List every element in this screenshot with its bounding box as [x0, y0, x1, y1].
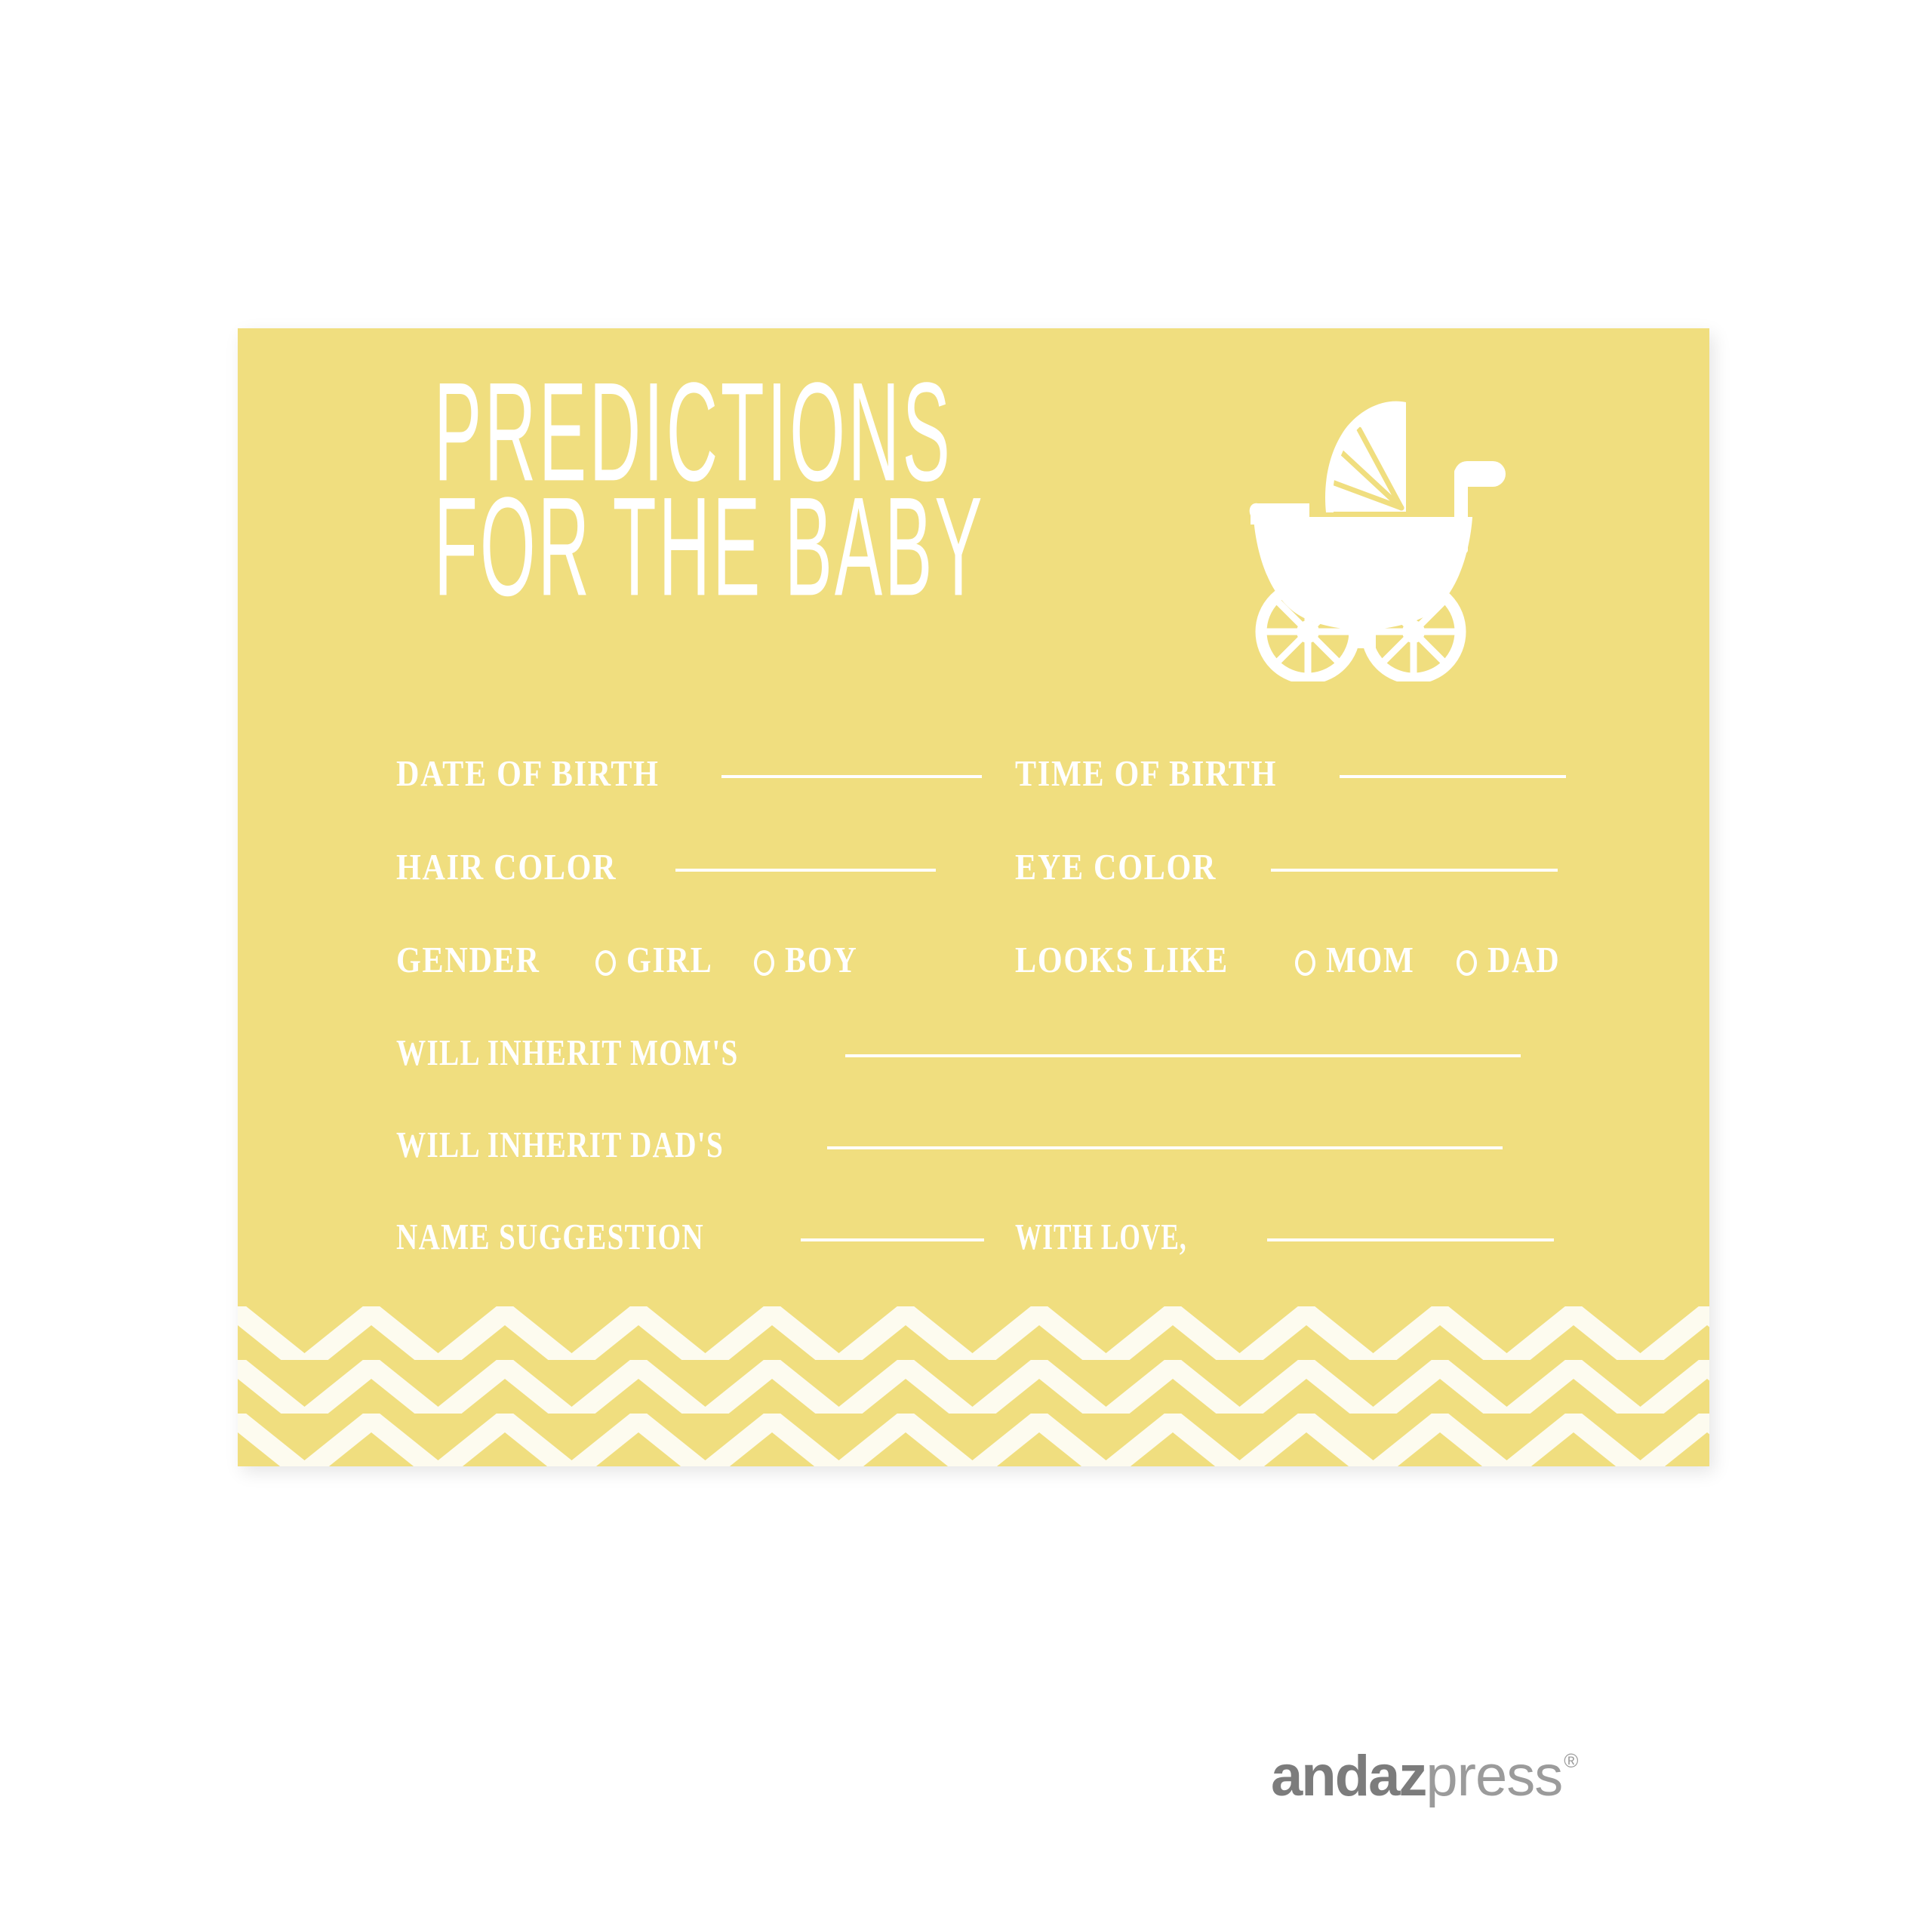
logo-brand-light: press: [1426, 1748, 1562, 1805]
logo-brand-bold: andaz: [1271, 1748, 1426, 1805]
field-date-of-birth[interactable]: DATE OF BIRTH: [396, 755, 982, 792]
card-header: PREDICTIONS FOR THE BABY: [238, 328, 1709, 630]
with-love-input-line[interactable]: [1267, 1238, 1554, 1241]
chevron-pattern: [238, 1306, 1709, 1466]
field-label: WITH LOVE,: [1015, 1218, 1187, 1256]
page-title: PREDICTIONS FOR THE BABY: [434, 365, 1189, 594]
radio-label-mom[interactable]: MOM: [1326, 938, 1414, 981]
radio-label-dad[interactable]: DAD: [1487, 938, 1560, 981]
field-label: NAME SUGGESTION: [396, 1218, 704, 1256]
field-with-love[interactable]: WITH LOVE,: [1015, 1218, 1554, 1256]
form-row-choices: GENDER GIRL BOY LOOKS LIKE MOM DAD: [238, 928, 1709, 991]
radio-gender-girl[interactable]: [595, 950, 616, 976]
andaz-press-logo: andaz press ®: [1271, 1748, 1577, 1805]
field-label: WILL INHERIT MOM'S: [396, 1034, 739, 1072]
will-inherit-moms-input-line[interactable]: [845, 1054, 1521, 1057]
page-canvas: PREDICTIONS FOR THE BABY: [0, 0, 1932, 1932]
radio-label-boy[interactable]: BOY: [785, 938, 857, 981]
field-will-inherit-dads[interactable]: WILL INHERIT DAD'S: [396, 1126, 1709, 1164]
form-row-inherit-dad: WILL INHERIT DAD'S: [238, 1113, 1709, 1177]
prediction-form: DATE OF BIRTH TIME OF BIRTH HAIR COLOR E…: [238, 630, 1709, 1313]
name-suggestion-input-line[interactable]: [801, 1238, 984, 1241]
form-row-name-and-love: NAME SUGGESTION WITH LOVE,: [238, 1205, 1709, 1269]
gender-label: GENDER: [396, 941, 540, 979]
prediction-card: PREDICTIONS FOR THE BABY: [238, 328, 1709, 1466]
field-gender: GENDER GIRL BOY: [396, 938, 869, 981]
eye-color-input-line[interactable]: [1271, 869, 1558, 872]
form-row-inherit-mom: WILL INHERIT MOM'S: [238, 1021, 1709, 1084]
looks-like-label: LOOKS LIKE: [1015, 941, 1229, 979]
field-time-of-birth[interactable]: TIME OF BIRTH: [1015, 755, 1566, 792]
radio-gender-boy[interactable]: [754, 950, 774, 976]
field-label: DATE OF BIRTH: [396, 755, 660, 792]
radio-label-girl[interactable]: GIRL: [626, 938, 713, 981]
field-label: WILL INHERIT DAD'S: [396, 1126, 724, 1164]
radio-looks-like-mom[interactable]: [1295, 950, 1315, 976]
hair-color-input-line[interactable]: [675, 869, 936, 872]
date-of-birth-input-line[interactable]: [721, 775, 982, 778]
title-line-2: FOR THE BABY: [434, 479, 887, 614]
field-will-inherit-moms[interactable]: WILL INHERIT MOM'S: [396, 1034, 1709, 1072]
field-label: EYE COLOR: [1015, 848, 1217, 886]
field-label: TIME OF BIRTH: [1015, 755, 1277, 792]
field-label: HAIR COLOR: [396, 848, 617, 886]
time-of-birth-input-line[interactable]: [1340, 775, 1566, 778]
registered-trademark-icon: ®: [1564, 1751, 1578, 1770]
will-inherit-dads-input-line[interactable]: [827, 1146, 1503, 1149]
form-row-birth: DATE OF BIRTH TIME OF BIRTH: [238, 742, 1709, 805]
form-row-colors: HAIR COLOR EYE COLOR: [238, 835, 1709, 899]
field-hair-color[interactable]: HAIR COLOR: [396, 848, 936, 886]
field-eye-color[interactable]: EYE COLOR: [1015, 848, 1558, 886]
field-looks-like: LOOKS LIKE MOM DAD: [1015, 938, 1572, 981]
radio-looks-like-dad[interactable]: [1457, 950, 1477, 976]
field-name-suggestion[interactable]: NAME SUGGESTION: [396, 1218, 984, 1256]
